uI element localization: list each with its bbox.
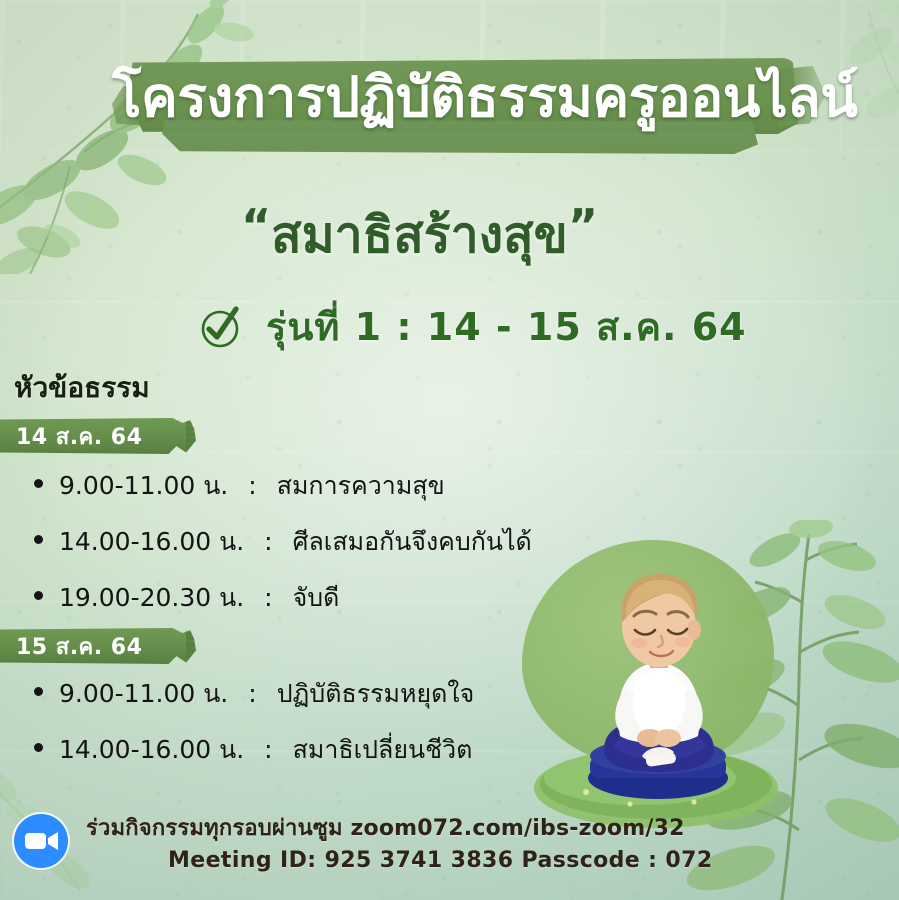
date-band-label-2: 15 ส.ค. 64 [16,628,142,664]
schedule-list-day-1: 9.00-11.00 น. : สมการความสุข 14.00-16.00… [34,466,532,634]
schedule-separator: : [244,471,260,500]
schedule-topic: สมาธิเปลี่ยนชีวิต [293,730,473,770]
footer: ร่วมกิจกรรมทุกรอบผ่านซูม zoom072.com/ibs… [0,806,899,884]
page-title: โครงการปฏิบัติธรรมครูออนไลน์ [112,60,812,134]
quote-open: “ [241,199,271,253]
check-circle-icon [196,303,244,351]
quote-close: ” [568,199,598,253]
schedule-topic: สมการความสุข [277,466,445,506]
section-heading: หัวข้อธรรม [14,366,150,410]
schedule-separator: : [260,527,276,556]
bullet-dot-icon [34,687,43,696]
bullet-dot-icon [34,535,43,544]
footer-meeting-credentials: Meeting ID: 925 3741 3836 Passcode : 072 [168,848,713,873]
schedule-time: 14.00-16.00 น. [59,522,244,562]
schedule-separator: : [260,735,276,764]
title-banner: โครงการปฏิบัติธรรมครูออนไลน์ [112,58,812,170]
schedule-time: 19.00-20.30 น. [59,578,244,618]
schedule-separator: : [260,583,276,612]
batch-row: รุ่นที่ 1 : 14 - 15 ส.ค. 64 [196,296,747,357]
poster-canvas: โครงการปฏิบัติธรรมครูออนไลน์ “สมาธิสร้าง… [0,0,899,900]
poster-subtitle: “สมาธิสร้างสุข” [0,196,839,275]
schedule-topic: ศีลเสมอกันจึงคบกันได้ [293,522,532,562]
list-item: 9.00-11.00 น. : ปฏิบัติธรรมหยุดใจ [34,674,474,714]
zoom-video-icon[interactable] [10,810,72,872]
batch-label: รุ่นที่ 1 : 14 - 15 ส.ค. 64 [266,296,747,357]
date-band-day-1: 14 ส.ค. 64 [0,418,196,454]
schedule-time: 14.00-16.00 น. [59,730,244,770]
schedule-topic: ปฏิบัติธรรมหยุดใจ [277,674,475,714]
bullet-dot-icon [34,479,43,488]
schedule-list-day-2: 9.00-11.00 น. : ปฏิบัติธรรมหยุดใจ 14.00-… [34,674,474,786]
date-band-day-2: 15 ส.ค. 64 [0,628,196,664]
list-item: 9.00-11.00 น. : สมการความสุข [34,466,532,506]
bullet-dot-icon [34,743,43,752]
meditating-boy-illustration [508,540,818,830]
footer-zoom-link[interactable]: ร่วมกิจกรรมทุกรอบผ่านซูม zoom072.com/ibs… [86,810,685,845]
list-item: 19.00-20.30 น. : จับดี [34,578,532,618]
schedule-time: 9.00-11.00 น. [59,466,228,506]
schedule-separator: : [244,679,260,708]
schedule-topic: จับดี [293,578,340,618]
subtitle-text: สมาธิสร้างสุข [271,206,568,264]
list-item: 14.00-16.00 น. : ศีลเสมอกันจึงคบกันได้ [34,522,532,562]
bullet-dot-icon [34,591,43,600]
schedule-time: 9.00-11.00 น. [59,674,228,714]
date-band-label-1: 14 ส.ค. 64 [16,418,142,454]
list-item: 14.00-16.00 น. : สมาธิเปลี่ยนชีวิต [34,730,474,770]
